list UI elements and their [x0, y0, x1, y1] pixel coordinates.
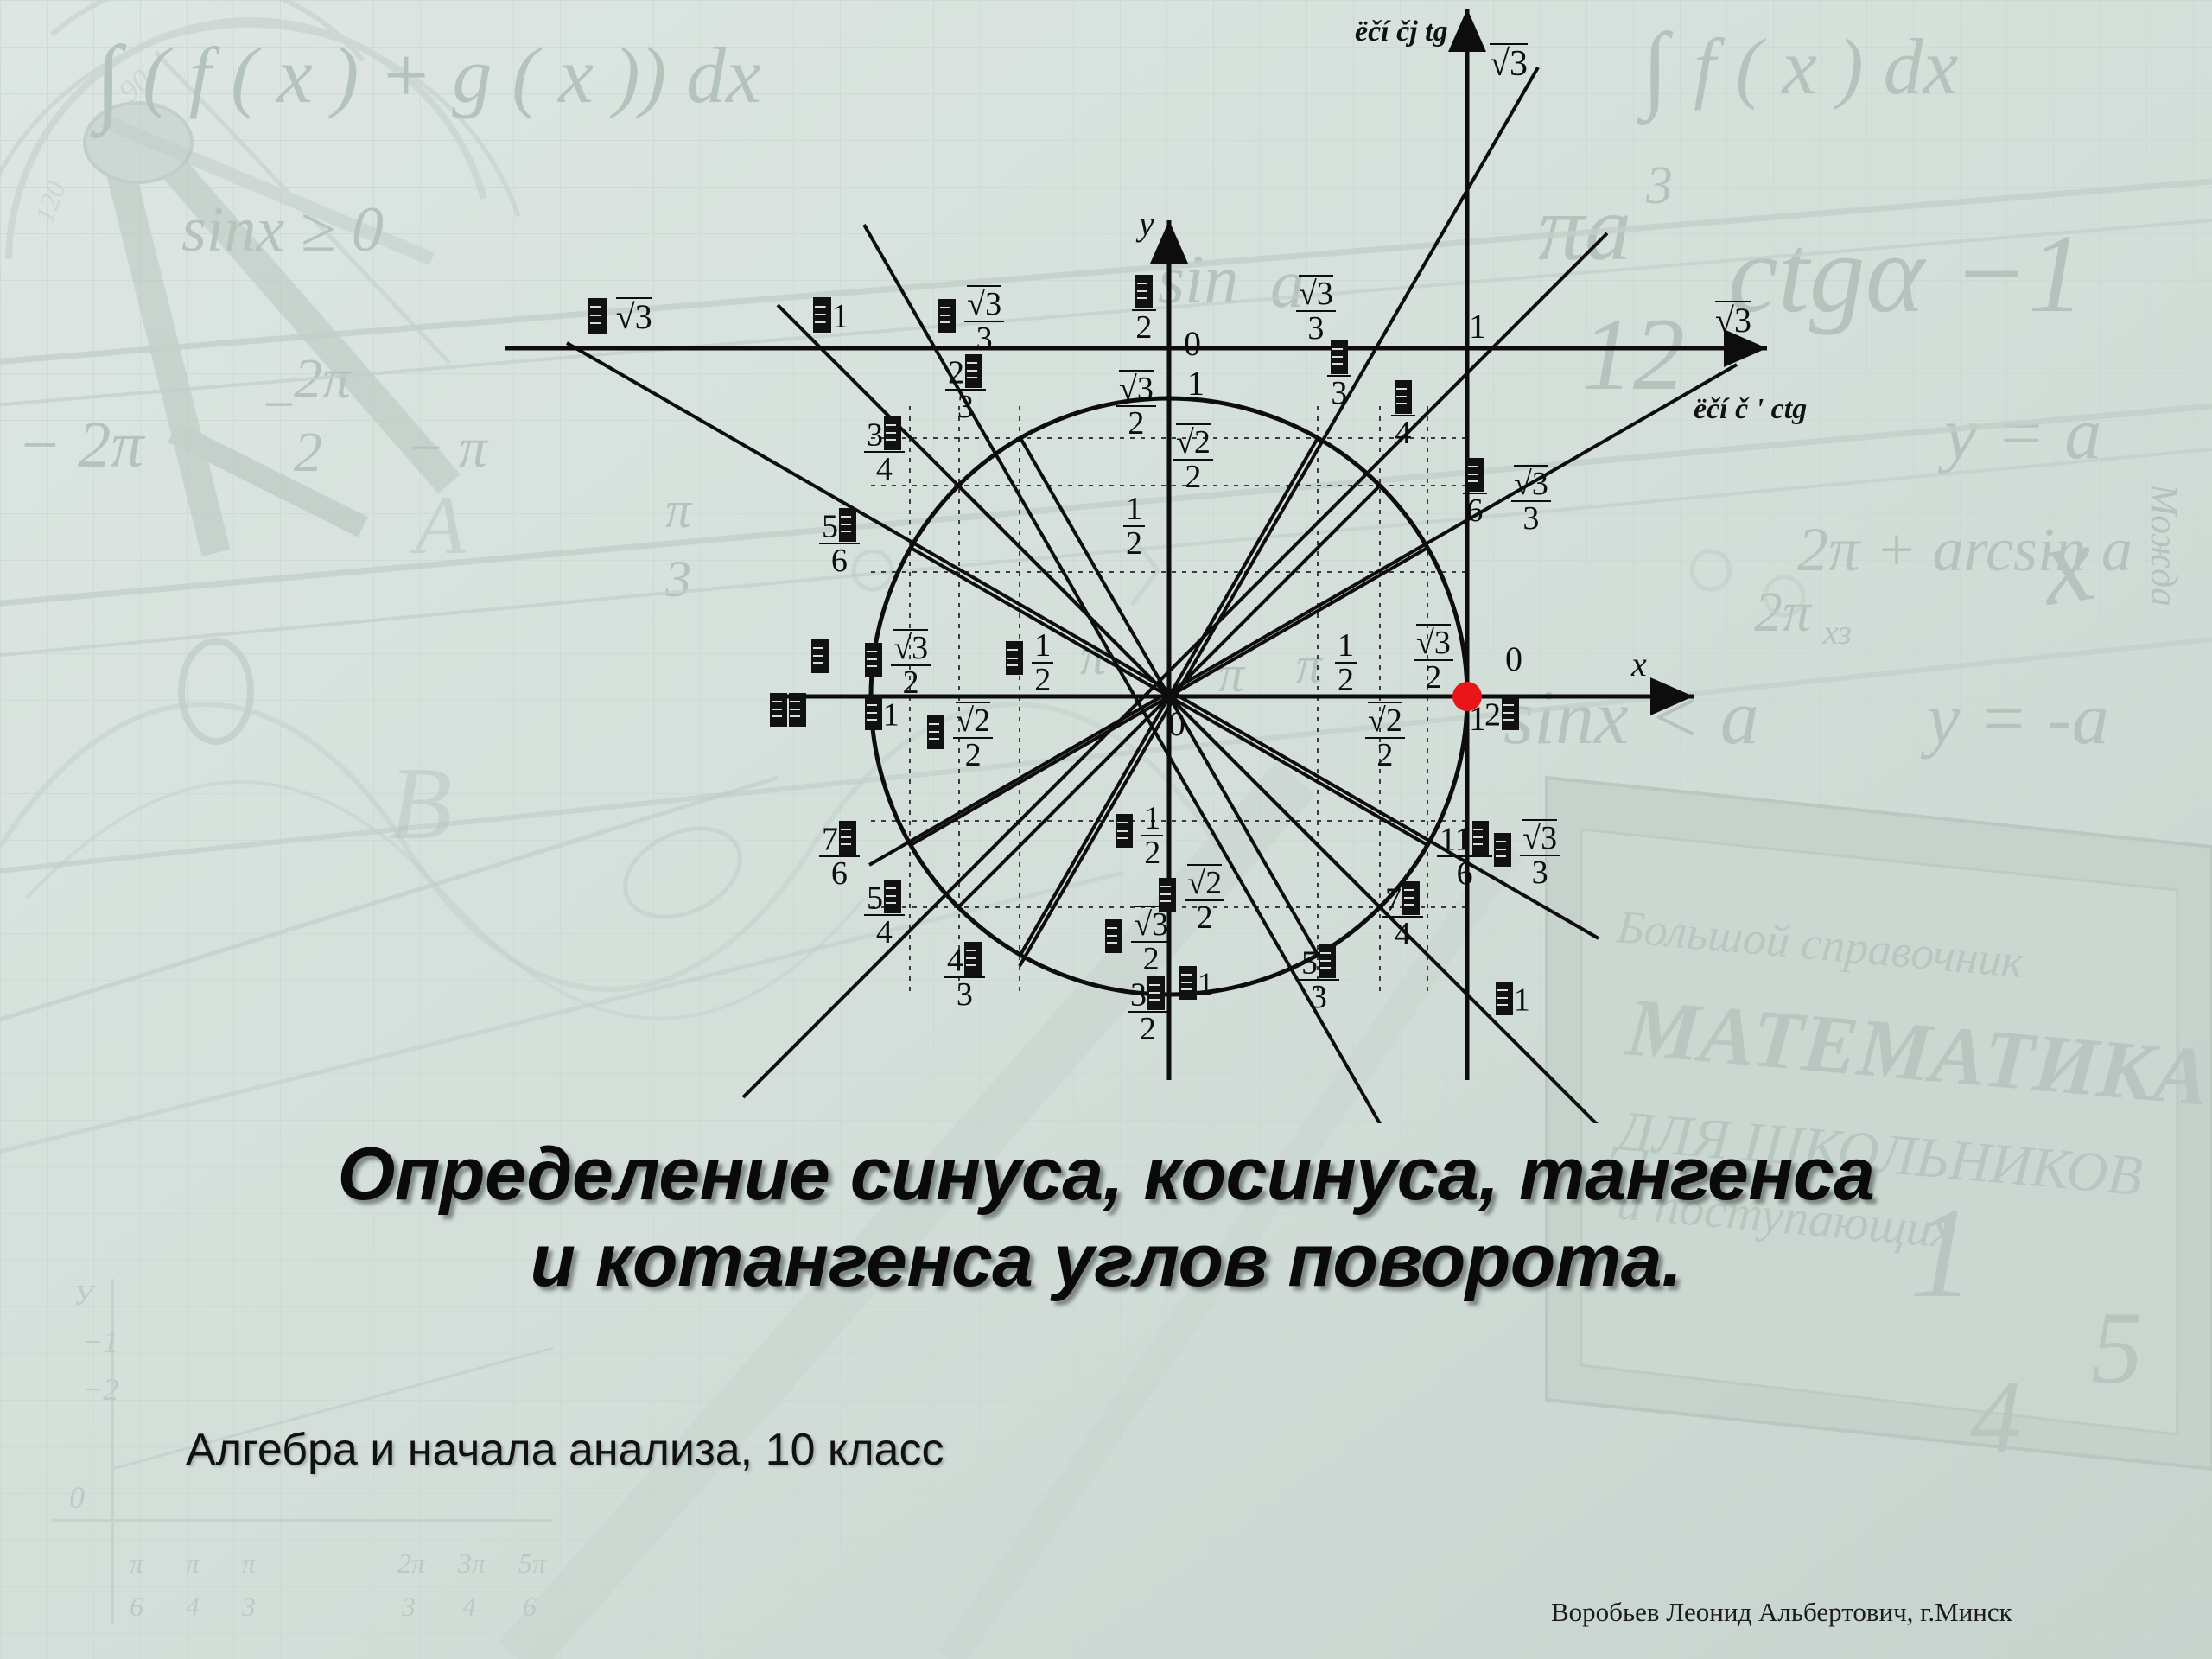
- angle-label-5pi-3: 53: [1299, 944, 1339, 1014]
- angle-label-pi-2: 2: [1132, 275, 1156, 344]
- y-axis-label: y: [1139, 203, 1154, 244]
- angle-label-5pi-4: 54: [864, 880, 905, 949]
- angle-label-pi-4: 4: [1391, 380, 1415, 449]
- angle-label-7pi-4: 74: [1382, 881, 1423, 950]
- title-line-1: Определение синуса, косинуса, тангенса: [0, 1132, 2212, 1218]
- unit-circle-diagram: y x ёčí čj tg ёčí č ' ctg 0 0 0 1 1 1 2 …: [0, 0, 2212, 1123]
- angle-label-2pi: 2: [1484, 696, 1520, 731]
- tangent-value-sqrt3-over-3-upper: √33: [1511, 465, 1551, 535]
- svg-text:3π: 3π: [457, 1548, 486, 1579]
- cotangent-value-neg-sqrt3-over-3: √33: [938, 285, 1004, 355]
- value-one-ctg-right: 1: [1469, 309, 1486, 344]
- svg-text:3: 3: [241, 1591, 256, 1622]
- title-line-2: и котангенса углов поворота.: [0, 1218, 2212, 1305]
- svg-text:4: 4: [1970, 1359, 2022, 1474]
- svg-text:π: π: [130, 1548, 144, 1579]
- svg-text:0: 0: [69, 1480, 85, 1515]
- svg-text:4: 4: [186, 1591, 200, 1622]
- origin-label-top: 0: [1184, 327, 1201, 361]
- cosine-value-sqrt3-over-2: √32: [1414, 624, 1453, 694]
- origin-label-right: 0: [1505, 642, 1522, 677]
- tangent-axis-label: ёčí čj tg: [1355, 16, 1448, 48]
- cosine-value-half: 12: [1335, 629, 1357, 696]
- angle-label-7pi-6: 76: [819, 821, 860, 890]
- cotangent-value-neg-sqrt3: √3: [588, 297, 652, 334]
- sine-value-sqrt3-over-2-top: √32: [1116, 370, 1156, 440]
- svg-text:−1: −1: [82, 1325, 118, 1359]
- svg-text:−2: −2: [82, 1372, 118, 1407]
- svg-text:3: 3: [401, 1591, 416, 1622]
- cotangent-value-sqrt3-over-3: √33: [1296, 275, 1336, 345]
- cotangent-value-sqrt3: √3: [1715, 301, 1751, 338]
- cosine-value-neg-half: 12: [1005, 629, 1053, 696]
- svg-text:π: π: [242, 1548, 257, 1579]
- svg-text:π: π: [186, 1548, 200, 1579]
- svg-text:6: 6: [523, 1591, 537, 1622]
- author-credit: Воробьев Леонид Альбертович, г.Минск: [1551, 1597, 2012, 1628]
- sine-value-half-top: 12: [1123, 493, 1145, 560]
- angle-label-pi-6: 6: [1463, 458, 1487, 527]
- svg-text:5: 5: [2091, 1290, 2143, 1405]
- angle-label-pi-3: 3: [1327, 340, 1351, 410]
- value-one-y-top: 1: [1187, 366, 1205, 401]
- subtitle: Алгебра и начала анализа, 10 класс: [186, 1424, 944, 1476]
- tangent-value-neg-one: 1: [1495, 982, 1530, 1016]
- angle-label-pi-left-pair: [769, 693, 807, 728]
- angle-label-4pi-3: 43: [944, 942, 985, 1011]
- origin-label-center: 0: [1168, 707, 1185, 741]
- x-axis-label: x: [1631, 644, 1647, 684]
- value-one-x-right: 1: [1469, 702, 1486, 736]
- cosine-value-neg-sqrt2-over-2: √22: [926, 702, 993, 772]
- cosine-value-neg-sqrt3-over-2: √32: [864, 629, 931, 699]
- angle-label-11pi-6: 116: [1437, 821, 1492, 890]
- sine-value-neg-sqrt3-over-2: √32: [1104, 906, 1171, 976]
- angle-label-3pi-2: 32: [1128, 976, 1168, 1046]
- svg-text:2π: 2π: [397, 1548, 426, 1579]
- angle-label-3pi-4: 34: [864, 416, 905, 486]
- sine-value-neg-one: 1: [1179, 966, 1214, 1001]
- tangent-value-sqrt3: √3: [1490, 43, 1528, 82]
- cosine-value-neg-one: 1: [864, 696, 899, 731]
- angle-label-pi: [810, 639, 829, 674]
- sine-value-neg-half: 12: [1115, 802, 1163, 869]
- angle-label-5pi-6: 56: [819, 508, 860, 577]
- cotangent-axis-label: ёčí č ' ctg: [1694, 393, 1807, 426]
- tangent-value-neg-sqrt3-over-3: √33: [1493, 819, 1560, 889]
- cotangent-value-neg-one: 1: [812, 297, 849, 334]
- sine-value-sqrt2-over-2-top: √22: [1173, 423, 1213, 493]
- cosine-value-sqrt2-over-2: √22: [1365, 702, 1405, 772]
- svg-text:5π: 5π: [518, 1548, 547, 1579]
- angle-label-2pi-3: 23: [945, 354, 986, 423]
- svg-text:4: 4: [462, 1591, 476, 1622]
- page-title: Определение синуса, косинуса, тангенса и…: [0, 1132, 2212, 1305]
- svg-text:6: 6: [130, 1591, 143, 1622]
